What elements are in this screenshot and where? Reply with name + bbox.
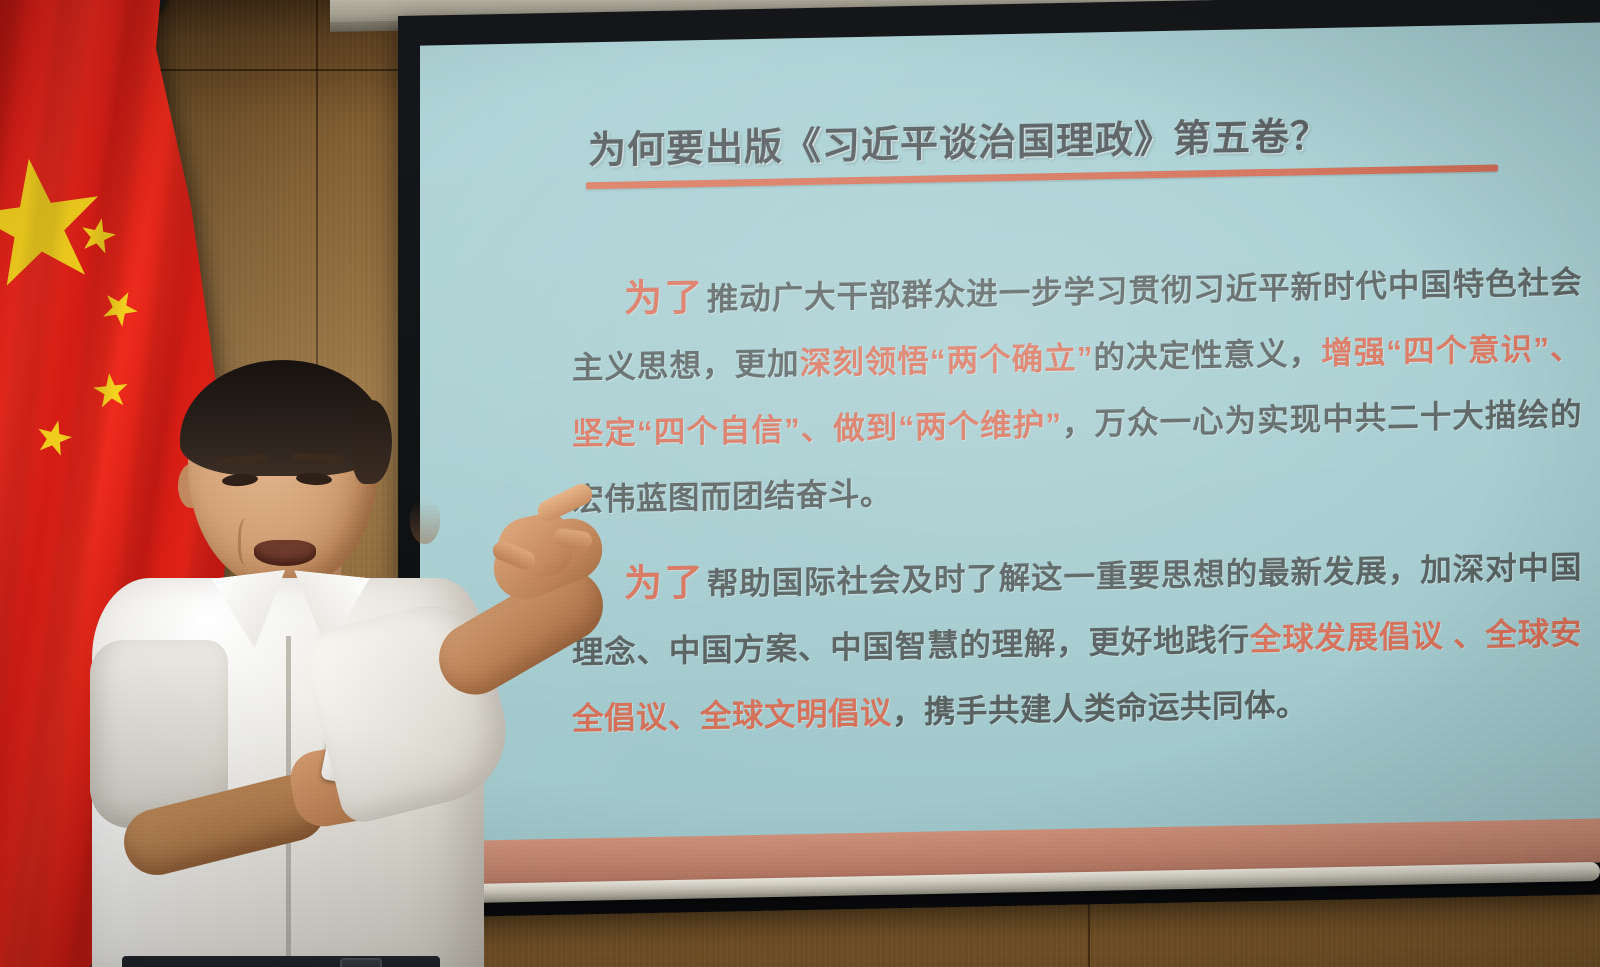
- presenter-belt: [122, 956, 440, 967]
- presenter-nose: [410, 500, 440, 544]
- paragraph-lead: 为了: [624, 562, 705, 606]
- text-run: 的决定性意义，: [1093, 335, 1321, 375]
- photo-stage: 为何要出版《习近平谈治国理政》第五卷？ 为了推动广大干部群众进一步学习贯彻习近平…: [0, 0, 1600, 967]
- slide-paragraph: 为了推动广大干部群众进一步学习贯彻习近平新时代中国特色社会主义思想，更加深刻领悟…: [572, 248, 1582, 533]
- slide-body: 为了推动广大干部群众进一步学习贯彻习近平新时代中国特色社会主义思想，更加深刻领悟…: [572, 248, 1582, 772]
- paragraph-lead: 为了: [624, 277, 705, 321]
- presenter-mouth: [254, 540, 316, 566]
- presenter-cheek-line: [238, 518, 258, 566]
- text-run-highlight: 深刻领悟“两个确立”: [800, 339, 1093, 381]
- presenter-index-finger: [534, 480, 595, 524]
- presenter-figure: [40, 360, 620, 967]
- text-run: ，携手共建人类命运共同体。: [892, 686, 1308, 730]
- slide-title: 为何要出版《习近平谈治国理政》第五卷？: [588, 110, 1508, 175]
- slide-paragraph: 为了帮助国际社会及时了解这一重要思想的最新发展，加深对中国理念、中国方案、中国智…: [572, 533, 1582, 752]
- presenter-hair: [180, 360, 386, 476]
- presenter-pointing-hand: [470, 490, 586, 582]
- presenter-belt-buckle: [340, 958, 382, 967]
